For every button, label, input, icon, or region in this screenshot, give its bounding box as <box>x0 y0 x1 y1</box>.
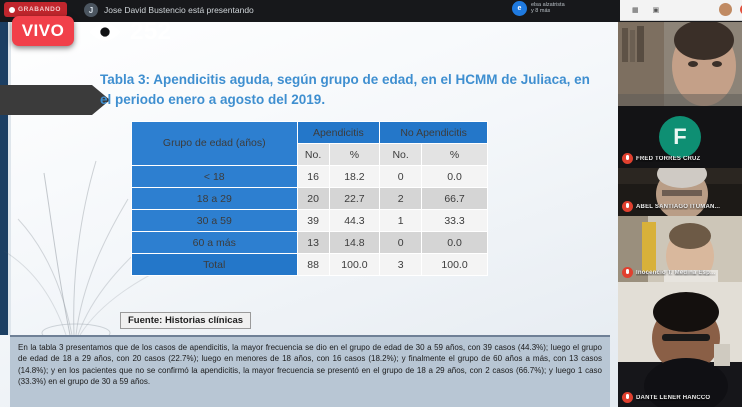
participant-tile[interactable]: ABEL SANTIAGO ITUMAN... <box>618 168 742 216</box>
shared-slide: Tabla 3: Apendicitis aguda, según grupo … <box>0 22 618 407</box>
table-row: 60 a más 13 14.8 0 0.0 <box>132 232 488 254</box>
participant-tile[interactable]: F FRED TORRES CRUZ <box>618 106 742 168</box>
slide-title: Tabla 3: Apendicitis aguda, según grupo … <box>100 70 600 109</box>
live-label: VIVO <box>22 21 65 41</box>
table-header-row-top: Grupo de edad (años) Apendicitis No Apen… <box>132 122 488 144</box>
live-badge: VIVO <box>12 16 74 46</box>
row-cell: 33.3 <box>422 210 488 232</box>
participant-name: Inocencio T. Medina Esp... <box>636 270 716 276</box>
recording-label: GRABANDO <box>18 6 61 13</box>
meeting-screen: Tabla 3: Apendicitis aguda, según grupo … <box>0 0 742 407</box>
apendicitis-table: Grupo de edad (años) Apendicitis No Apen… <box>131 121 488 276</box>
participant-name: FRED TORRES CRUZ <box>636 156 700 162</box>
slide-caption-text: En la tabla 3 presentamos que de los cas… <box>10 335 610 407</box>
row-cell: 3 <box>380 254 422 276</box>
participant-nametag: FRED TORRES CRUZ <box>622 153 700 164</box>
mic-muted-icon <box>622 153 633 164</box>
table-header-group: Grupo de edad (años) <box>132 122 298 166</box>
table-row: < 18 16 18.2 0 0.0 <box>132 166 488 188</box>
participant-video <box>618 20 742 106</box>
participant-overflow-count: y 8 más <box>531 9 565 15</box>
table-subheader-no-2: No. <box>380 144 422 166</box>
row-label-total: Total <box>132 254 298 276</box>
row-cell: 0.0 <box>422 166 488 188</box>
screen-share-icon[interactable]: ▣ <box>653 7 660 14</box>
participant-strip: F FRED TORRES CRUZ ABEL SANTIAGO ITUMAN.… <box>618 0 742 407</box>
row-cell: 44.3 <box>329 210 380 232</box>
participants-pill-labels: elsa alzatrista y 8 más <box>531 3 565 15</box>
table-header-no-apendicitis: No Apendicitis <box>380 122 488 144</box>
row-label: 60 a más <box>132 232 298 254</box>
participant-tile[interactable]: Inocencio T. Medina Esp... <box>618 216 742 282</box>
row-cell: 100.0 <box>422 254 488 276</box>
eye-icon <box>88 21 122 43</box>
presenter-status-text: Jose David Bustencio está presentando <box>104 5 254 15</box>
participant-name: ABEL SANTIAGO ITUMAN... <box>636 204 720 210</box>
mic-muted-icon <box>622 392 633 403</box>
participant-video <box>618 282 742 407</box>
participants-pill[interactable]: e elsa alzatrista y 8 más <box>512 1 565 16</box>
participant-tile[interactable] <box>618 20 742 106</box>
slide-arrow-banner <box>0 85 92 115</box>
participant-nametag: DANTE LENER HANCCO <box>622 392 710 403</box>
row-cell: 0 <box>380 166 422 188</box>
row-cell: 16 <box>297 166 329 188</box>
table-row-total: Total 88 100.0 3 100.0 <box>132 254 488 276</box>
recording-badge: GRABANDO <box>4 2 67 17</box>
row-cell: 13 <box>297 232 329 254</box>
row-label: < 18 <box>132 166 298 188</box>
table-subheader-pct-1: % <box>329 144 380 166</box>
row-label: 30 a 59 <box>132 210 298 232</box>
record-dot-icon <box>9 7 15 13</box>
row-cell: 88 <box>297 254 329 276</box>
table-source-note: Fuente: Historias clínicas <box>120 312 251 329</box>
row-cell: 20 <box>297 188 329 210</box>
row-cell: 2 <box>380 188 422 210</box>
row-cell: 66.7 <box>422 188 488 210</box>
row-cell: 22.7 <box>329 188 380 210</box>
viewer-count: 252 <box>130 18 172 46</box>
floating-mini-toolbar[interactable]: ▦ ▣ <box>620 0 742 21</box>
mic-muted-icon <box>622 267 633 278</box>
toolbar-avatar[interactable] <box>719 3 732 16</box>
viewer-counter: 252 <box>88 18 172 46</box>
row-cell: 100.0 <box>329 254 380 276</box>
row-cell: 39 <box>297 210 329 232</box>
participant-nametag: ABEL SANTIAGO ITUMAN... <box>622 201 720 212</box>
mic-muted-icon <box>622 201 633 212</box>
row-cell: 14.8 <box>329 232 380 254</box>
participant-name: DANTE LENER HANCCO <box>636 395 710 401</box>
row-cell: 1 <box>380 210 422 232</box>
participant-tile[interactable]: DANTE LENER HANCCO <box>618 282 742 407</box>
participant-nametag: Inocencio T. Medina Esp... <box>622 267 716 278</box>
avatar: F <box>659 116 701 158</box>
table-subheader-no-1: No. <box>297 144 329 166</box>
grid-layout-icon[interactable]: ▦ <box>632 7 639 14</box>
presenter-avatar: J <box>84 3 98 17</box>
row-cell: 0.0 <box>422 232 488 254</box>
table-header-apendicitis: Apendicitis <box>297 122 380 144</box>
table-subheader-pct-2: % <box>422 144 488 166</box>
table-row: 18 a 29 20 22.7 2 66.7 <box>132 188 488 210</box>
participant-avatar: e <box>512 1 527 16</box>
row-label: 18 a 29 <box>132 188 298 210</box>
table-row: 30 a 59 39 44.3 1 33.3 <box>132 210 488 232</box>
row-cell: 0 <box>380 232 422 254</box>
row-cell: 18.2 <box>329 166 380 188</box>
